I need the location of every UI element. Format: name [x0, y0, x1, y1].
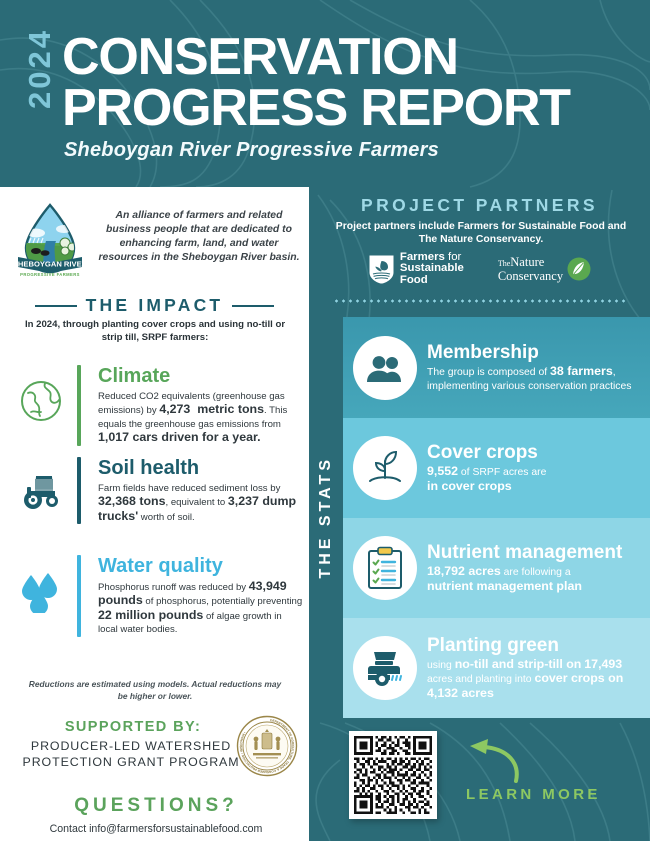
wisconsin-datcp-seal: DEPARTMENT OF AGRICULTURE, TRADE & CONSU…: [236, 715, 298, 777]
clipboard-checklist-icon: [353, 536, 417, 600]
impact-item-water-quality: Water quality Phosphorus runoff was redu…: [14, 555, 304, 637]
impact-heading-text: THE IMPACT: [86, 295, 224, 316]
curved-arrow-icon: [462, 735, 526, 783]
heading-rule-right: [232, 305, 274, 307]
tnc-wordmark: TheNature Conservancy: [498, 256, 563, 282]
the-nature-conservancy-logo: TheNature Conservancy: [498, 256, 591, 282]
learn-more-label[interactable]: LEARN MORE: [466, 786, 601, 803]
impact-text-soil-health: Farm fields have reduced sediment loss b…: [98, 482, 304, 524]
stat-title-nutrient-management: Nutrient management: [427, 542, 640, 563]
stat-text-nutrient-management: 18,792 acres are following anutrient man…: [427, 565, 640, 594]
stat-text-planting-green: using no-till and strip-till on 17,493 a…: [427, 658, 640, 701]
stats-section: THE STATS Membership The group is co: [309, 317, 650, 718]
impact-section-heading: THE IMPACT: [0, 295, 309, 316]
stat-text-cover-crops: 9,552 of SRPF acres arein cover crops: [427, 465, 640, 494]
disclaimer-text: Reductions are estimated using models. A…: [26, 679, 284, 702]
qr-code[interactable]: [349, 731, 437, 819]
stats-spine-label: THE STATS: [317, 456, 335, 579]
stat-band-nutrient-management: Nutrient management 18,792 acres are fol…: [343, 518, 650, 618]
accent-bar-climate: [77, 365, 81, 446]
impact-title-climate: Climate: [98, 365, 304, 388]
report-header: 2024 CONSERVATION PROGRESS REPORT Sheboy…: [0, 0, 650, 187]
water-drops-icon: [14, 555, 68, 637]
left-content-panel: SHEBOYGAN RIVER PROGRESSIVE FARMERS An a…: [0, 187, 309, 841]
contact-line: Contact info@farmersforsustainablefood.c…: [14, 823, 298, 835]
partners-subtitle: Project partners include Farmers for Sus…: [331, 220, 631, 246]
grant-program-line1: PRODUCER-LED WATERSHED: [22, 739, 240, 753]
stat-band-cover-crops: Cover crops 9,552 of SRPF acres arein co…: [343, 418, 650, 518]
heading-rule-left: [35, 305, 77, 307]
project-partners-section: PROJECT PARTNERS Project partners includ…: [309, 187, 650, 317]
svg-text:PROGRESSIVE FARMERS: PROGRESSIVE FARMERS: [20, 272, 80, 277]
tnc-oak-leaf-icon: [567, 257, 591, 281]
stat-text-membership: The group is composed of 38 farmers, imp…: [427, 365, 640, 393]
stat-band-membership: Membership The group is composed of 38 f…: [343, 317, 650, 418]
fsf-shield-icon: [368, 254, 395, 285]
infographic-page: 2024 CONSERVATION PROGRESS REPORT Sheboy…: [0, 0, 650, 841]
org-intro-row: SHEBOYGAN RIVER PROGRESSIVE FARMERS An a…: [12, 201, 302, 279]
srpf-logo: SHEBOYGAN RIVER PROGRESSIVE FARMERS: [12, 201, 88, 279]
accent-bar-soil-health: [77, 457, 81, 524]
impact-text-climate: Reduced CO2 equivalents (greenhouse gas …: [98, 390, 304, 446]
report-year: 2024: [22, 28, 58, 109]
seedling-icon: [353, 436, 417, 500]
page-subtitle: Sheboygan River Progressive Farmers: [64, 139, 439, 162]
impact-subheading: In 2024, through planting cover crops an…: [18, 319, 292, 344]
impact-title-water-quality: Water quality: [98, 555, 304, 578]
dotted-divider: [333, 299, 629, 303]
people-icon: [353, 336, 417, 400]
page-title-line1: CONSERVATION: [62, 33, 458, 82]
partners-heading: PROJECT PARTNERS: [309, 195, 650, 216]
stat-title-cover-crops: Cover crops: [427, 442, 640, 463]
impact-title-soil-health: Soil health: [98, 457, 304, 480]
planter-icon: [353, 636, 417, 700]
alliance-description: An alliance of farmers and related busin…: [96, 201, 302, 265]
questions-heading: QUESTIONS?: [14, 795, 298, 817]
stat-band-planting-green: Planting green using no-till and strip-t…: [343, 618, 650, 718]
stat-title-planting-green: Planting green: [427, 635, 640, 656]
stats-spine-label-wrap: THE STATS: [309, 317, 343, 718]
tractor-icon: [14, 457, 68, 524]
supported-by-label: SUPPORTED BY:: [38, 719, 228, 735]
grant-program-line2: PROTECTION GRANT PROGRAM: [22, 755, 240, 769]
impact-text-water-quality: Phosphorus runoff was reduced by 43,949 …: [98, 580, 304, 637]
globe-icon: [14, 365, 68, 446]
page-title-line2: PROGRESS REPORT: [62, 84, 570, 133]
farmers-for-sustainable-food-logo: Farmers for Sustainable Food: [368, 252, 464, 287]
fsf-wordmark: Farmers for Sustainable Food: [400, 252, 464, 287]
accent-bar-water-quality: [77, 555, 81, 637]
impact-item-soil-health: Soil health Farm fields have reduced sed…: [14, 457, 304, 524]
partner-logos-row: Farmers for Sustainable Food TheNature C…: [309, 247, 650, 291]
svg-text:SHEBOYGAN RIVER: SHEBOYGAN RIVER: [13, 259, 88, 268]
qr-code-image: [354, 736, 432, 814]
impact-item-climate: Climate Reduced CO2 equivalents (greenho…: [14, 365, 304, 446]
stat-title-membership: Membership: [427, 342, 640, 363]
